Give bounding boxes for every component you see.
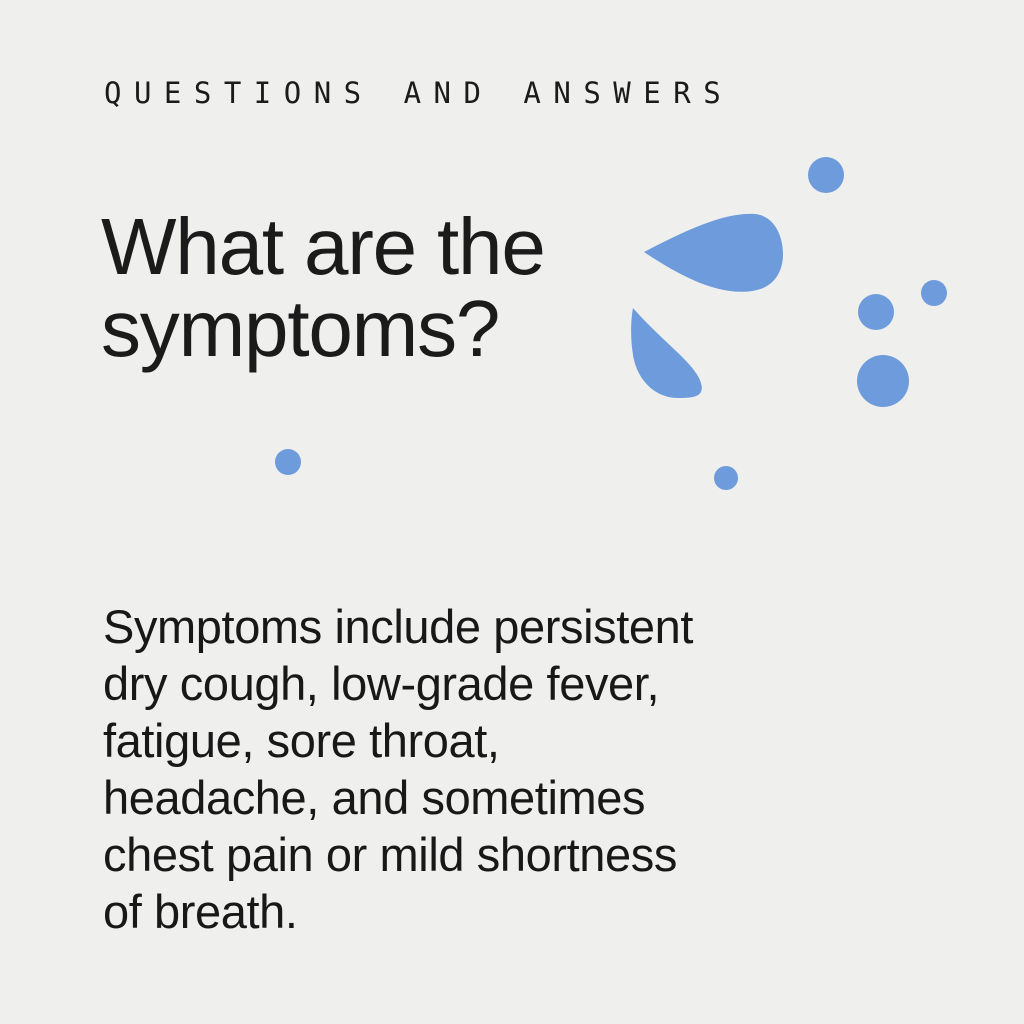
body-line-5: chest pain or mild shortness bbox=[103, 826, 783, 883]
dot-mid-right-icon bbox=[858, 294, 894, 330]
answer-body-text: Symptoms include persistent dry cough, l… bbox=[103, 598, 783, 940]
dot-top-right-icon bbox=[808, 157, 844, 193]
body-line-3: fatigue, sore throat, bbox=[103, 712, 783, 769]
dot-far-right-small-icon bbox=[921, 280, 947, 306]
dot-lower-left-icon bbox=[275, 449, 301, 475]
body-line-1: Symptoms include persistent bbox=[103, 598, 783, 655]
headline-line-1: What are the bbox=[101, 206, 721, 288]
headline-line-2: symptoms? bbox=[101, 288, 721, 370]
dot-lower-right-large-icon bbox=[857, 355, 909, 407]
body-line-6: of breath. bbox=[103, 883, 783, 940]
qa-card: QUESTIONS AND ANSWERS What are the sympt… bbox=[0, 0, 1024, 1024]
page-title: What are the symptoms? bbox=[101, 206, 721, 370]
eyebrow-label: QUESTIONS AND ANSWERS bbox=[104, 78, 733, 110]
body-line-4: headache, and sometimes bbox=[103, 769, 783, 826]
dot-bottom-center-icon bbox=[714, 466, 738, 490]
body-line-2: dry cough, low-grade fever, bbox=[103, 655, 783, 712]
